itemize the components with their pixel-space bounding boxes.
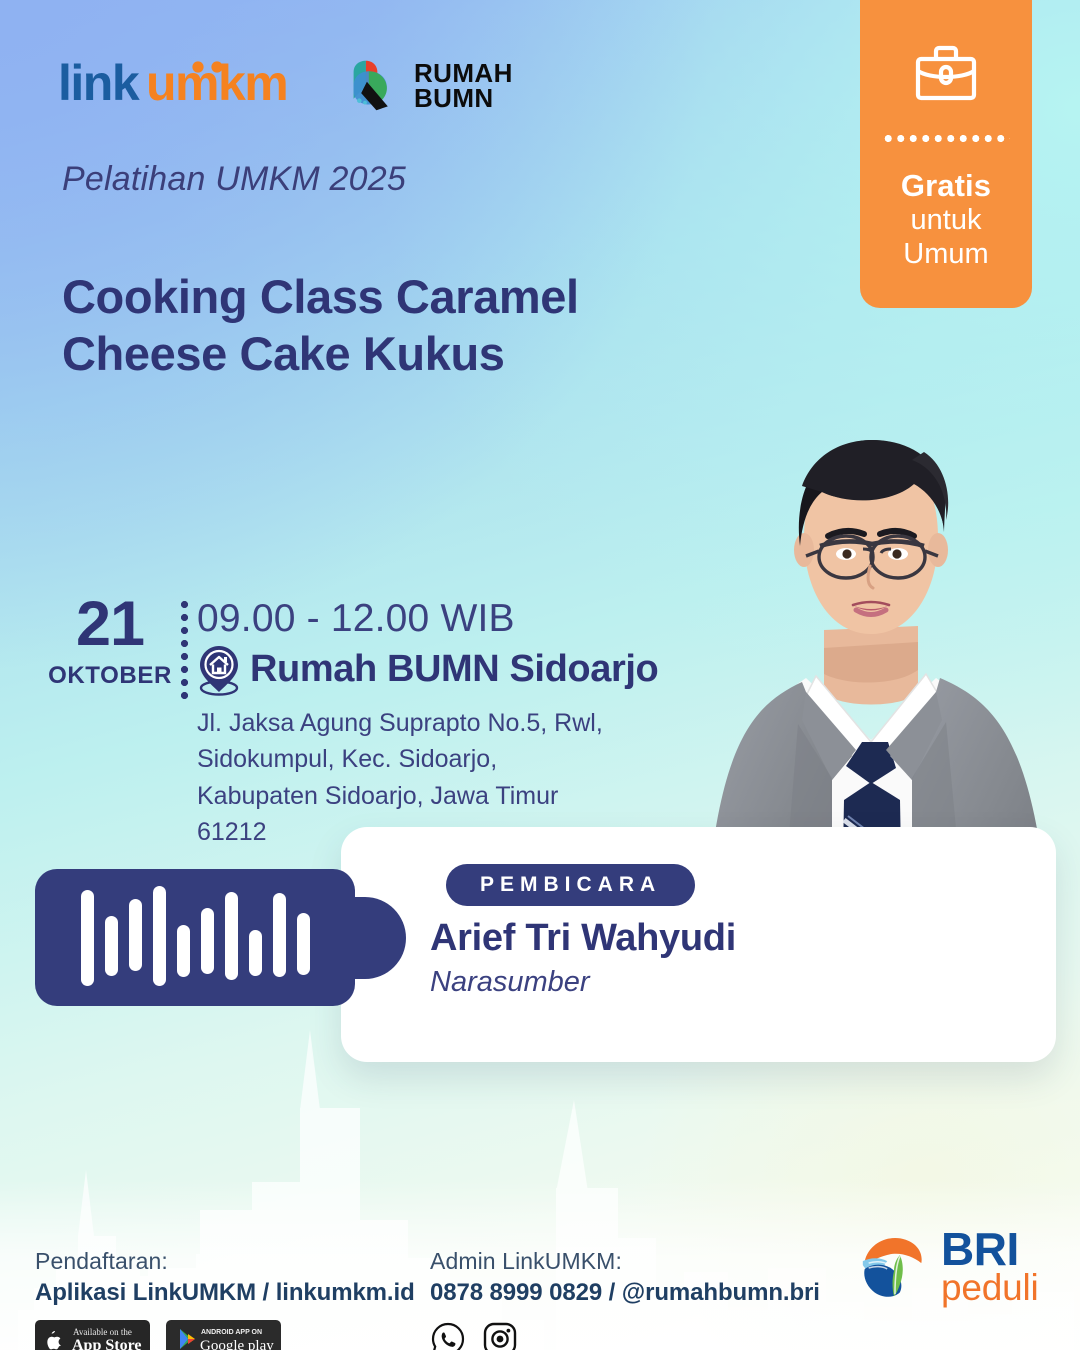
app-store-big: App Store (72, 1337, 142, 1350)
waveform-bar-5 (177, 925, 190, 977)
event-date: 21 OKTOBER (35, 595, 185, 690)
map-pin-house-icon (197, 644, 241, 696)
audio-waveform-icon (35, 869, 355, 1006)
badge-line-1: Gratis (901, 168, 991, 204)
rumah-bumn-line-1: RUMAH (414, 61, 513, 85)
app-store-small: Available on the (73, 1327, 132, 1337)
event-details: 09.00 - 12.00 WIB Rumah BUMN Sidoarjo Jl… (197, 598, 697, 851)
admin-contact-block: Admin LinkUMKM: 0878 8999 0829 / @rumahb… (430, 1248, 820, 1350)
waveform-bar-10 (297, 913, 310, 975)
google-play-badge[interactable]: ANDROID APP ON Google play (166, 1320, 281, 1350)
google-play-small: ANDROID APP ON (201, 1329, 262, 1336)
registration-block: Pendaftaran: Aplikasi LinkUMKM / linkumk… (35, 1248, 415, 1350)
social-icons (430, 1321, 820, 1350)
google-play-big: Google play (200, 1338, 274, 1350)
bri-peduli-mark-icon (855, 1228, 933, 1306)
whatsapp-icon[interactable] (430, 1321, 466, 1350)
admin-label: Admin LinkUMKM: (430, 1248, 820, 1275)
waveform-bar-8 (249, 930, 262, 976)
waveform-bar-1 (81, 890, 94, 986)
waveform-bar-9 (273, 893, 286, 977)
bri-peduli-logo: BRI peduli (855, 1228, 1039, 1306)
logo-row: link umkm RUMAH BUMN (58, 57, 513, 114)
poster-canvas: link umkm RUMAH BUMN (0, 0, 1080, 1350)
registration-value: Aplikasi LinkUMKM / linkumkm.id (35, 1279, 415, 1307)
free-badge: Gratis untuk Umum (860, 0, 1032, 308)
event-venue-line: Rumah BUMN Sidoarjo (197, 644, 697, 696)
speaker-role: Narasumber (430, 966, 590, 999)
badge-line-3: Umum (901, 238, 991, 272)
admin-value: 0878 8999 0829 / @rumahbumn.bri (430, 1279, 820, 1307)
event-day: 21 (35, 595, 185, 655)
badge-text: Gratis untuk Umum (901, 168, 991, 272)
waveform-bar-3 (129, 899, 142, 971)
rumah-bumn-logo: RUMAH BUMN (346, 57, 513, 114)
rumah-bumn-wordmark: RUMAH BUMN (414, 61, 513, 109)
rumah-bumn-mark-icon (346, 57, 403, 114)
page-title: Cooking Class Caramel Cheese Cake Kukus (62, 268, 682, 383)
briefcase-icon (914, 44, 978, 107)
svg-text:link: link (58, 60, 140, 111)
speaker-name: Arief Tri Wahyudi (430, 917, 736, 960)
bri-peduli-wordmark: BRI peduli (941, 1229, 1039, 1304)
waveform-bar-4 (153, 886, 166, 986)
vertical-dotted-divider (181, 598, 188, 704)
rumah-bumn-line-2: BUMN (414, 86, 513, 110)
event-month: OKTOBER (35, 662, 185, 690)
event-venue-name: Rumah BUMN Sidoarjo (250, 648, 658, 691)
event-kicker: Pelatihan UMKM 2025 (62, 160, 406, 199)
badge-line-2: untuk (901, 204, 991, 238)
instagram-icon[interactable] (482, 1321, 518, 1350)
speaker-label-pill: PEMBICARA (446, 864, 695, 906)
app-store-badges: Available on the App Store ANDROID APP O… (35, 1320, 415, 1350)
app-store-badge[interactable]: Available on the App Store (35, 1320, 150, 1350)
bri-name: BRI (941, 1229, 1039, 1269)
waveform-bar-7 (225, 892, 238, 980)
linkumkm-logo-mark: link umkm (58, 60, 308, 112)
bri-sub: peduli (941, 1272, 1039, 1305)
badge-dotted-divider (882, 135, 1010, 142)
event-time: 09.00 - 12.00 WIB (197, 598, 697, 641)
linkumkm-logo: link umkm (58, 60, 308, 112)
waveform-bar-6 (201, 908, 214, 974)
waveform-bar-2 (105, 916, 118, 976)
registration-label: Pendaftaran: (35, 1248, 415, 1275)
